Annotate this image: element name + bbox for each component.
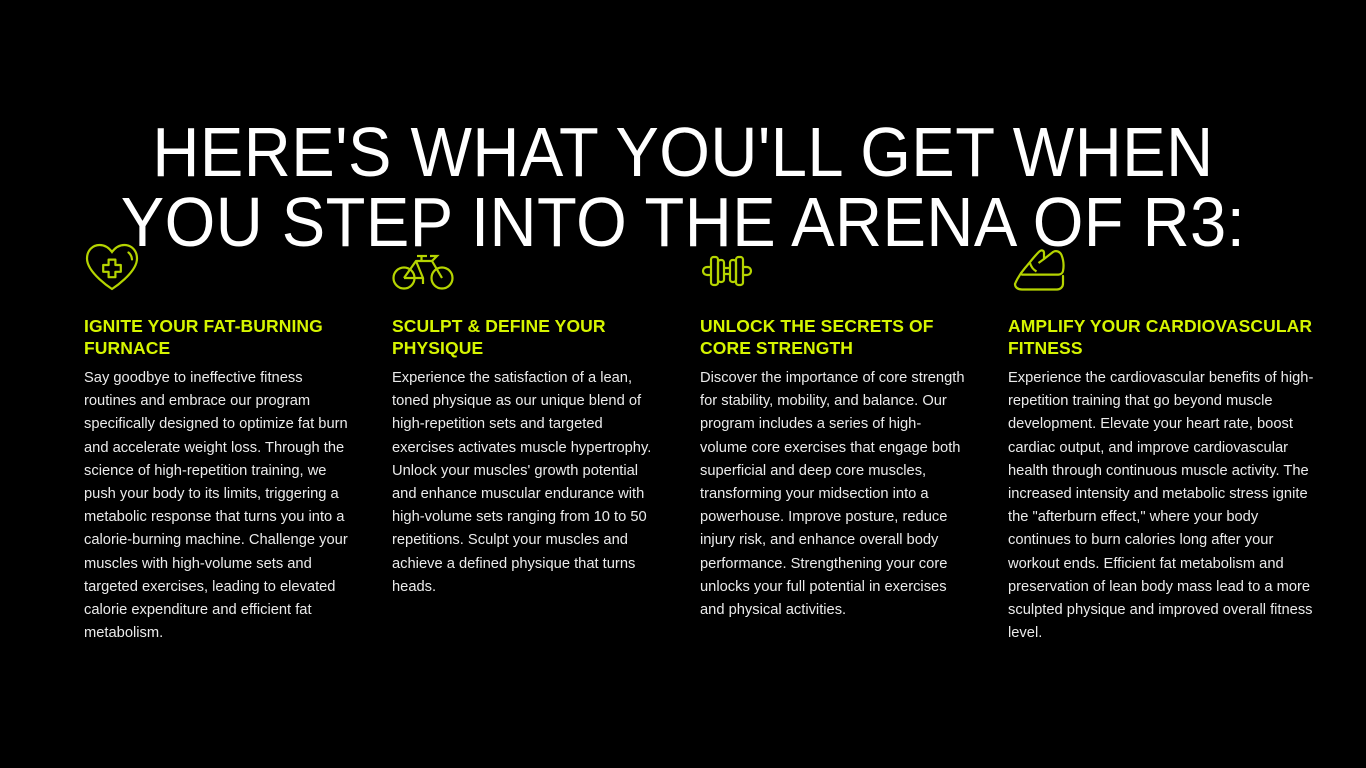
benefit-title: UNLOCK THE SECRETS OF CORE STRENGTH <box>700 316 968 359</box>
benefit-body: Discover the importance of core strength… <box>700 367 968 622</box>
benefit-columns: IGNITE YOUR FAT-BURNING FURNACE Say good… <box>84 238 1324 645</box>
benefit-title: SCULPT & DEFINE YOUR PHYSIQUE <box>392 316 660 359</box>
benefit-body: Say goodbye to ineffective fitness routi… <box>84 367 352 645</box>
benefit-title: IGNITE YOUR FAT-BURNING FURNACE <box>84 316 352 359</box>
running-shoe-icon <box>1008 238 1314 292</box>
benefit-title: AMPLIFY YOUR CARDIOVASCULAR FITNESS <box>1008 316 1314 359</box>
benefit-column-4: AMPLIFY YOUR CARDIOVASCULAR FITNESS Expe… <box>1008 238 1324 645</box>
benefit-body: Experience the satisfaction of a lean, t… <box>392 367 660 599</box>
bicycle-icon <box>392 238 660 292</box>
slide-root: HERE'S WHAT YOU'LL GET WHEN YOU STEP INT… <box>0 0 1366 768</box>
heart-with-cross-icon <box>84 238 352 292</box>
benefit-column-2: SCULPT & DEFINE YOUR PHYSIQUE Experience… <box>392 238 700 599</box>
benefit-body: Experience the cardiovascular benefits o… <box>1008 367 1314 645</box>
benefit-column-3: UNLOCK THE SECRETS OF CORE STRENGTH Disc… <box>700 238 1008 622</box>
benefit-column-1: IGNITE YOUR FAT-BURNING FURNACE Say good… <box>84 238 392 645</box>
dumbbell-icon <box>700 238 968 292</box>
page-title: HERE'S WHAT YOU'LL GET WHEN YOU STEP INT… <box>48 117 1318 257</box>
